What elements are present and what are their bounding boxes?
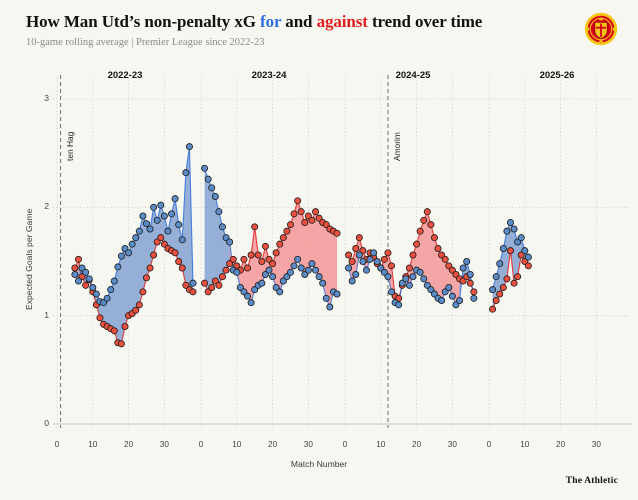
x-axis-tick: 30: [443, 440, 461, 449]
manager-annotation-amorim: Amorim: [392, 132, 402, 161]
x-axis-tick: 20: [408, 440, 426, 449]
x-axis-tick: 0: [480, 440, 498, 449]
y-axis-title: Expected Goals per Game: [24, 209, 34, 310]
x-axis-tick: 30: [155, 440, 173, 449]
manager-annotation-ten-hag: ten Hag: [65, 132, 75, 161]
x-axis-tick: 30: [299, 440, 317, 449]
facet-label-2022-23: 2022-23: [57, 70, 193, 81]
x-axis-tick: 30: [587, 440, 605, 449]
x-axis-tick: 20: [552, 440, 570, 449]
y-axis-tick: 3: [31, 93, 49, 103]
x-axis-tick: 10: [516, 440, 534, 449]
x-axis-tick: 10: [228, 440, 246, 449]
x-axis-tick: 10: [372, 440, 390, 449]
x-axis-tick: 10: [84, 440, 102, 449]
x-axis-tick: 0: [192, 440, 210, 449]
source-credit: The Athletic: [566, 476, 618, 486]
x-axis-tick: 0: [48, 440, 66, 449]
x-axis-title: Match Number: [0, 459, 638, 469]
facet-label-2024-25: 2024-25: [345, 70, 481, 81]
facet-label-2023-24: 2023-24: [201, 70, 337, 81]
y-axis-tick: 1: [31, 310, 49, 320]
facet-label-2025-26: 2025-26: [489, 70, 625, 81]
y-axis-tick: 0: [31, 418, 49, 428]
x-axis-tick: 0: [336, 440, 354, 449]
x-axis-tick: 20: [264, 440, 282, 449]
x-axis-tick: 20: [120, 440, 138, 449]
